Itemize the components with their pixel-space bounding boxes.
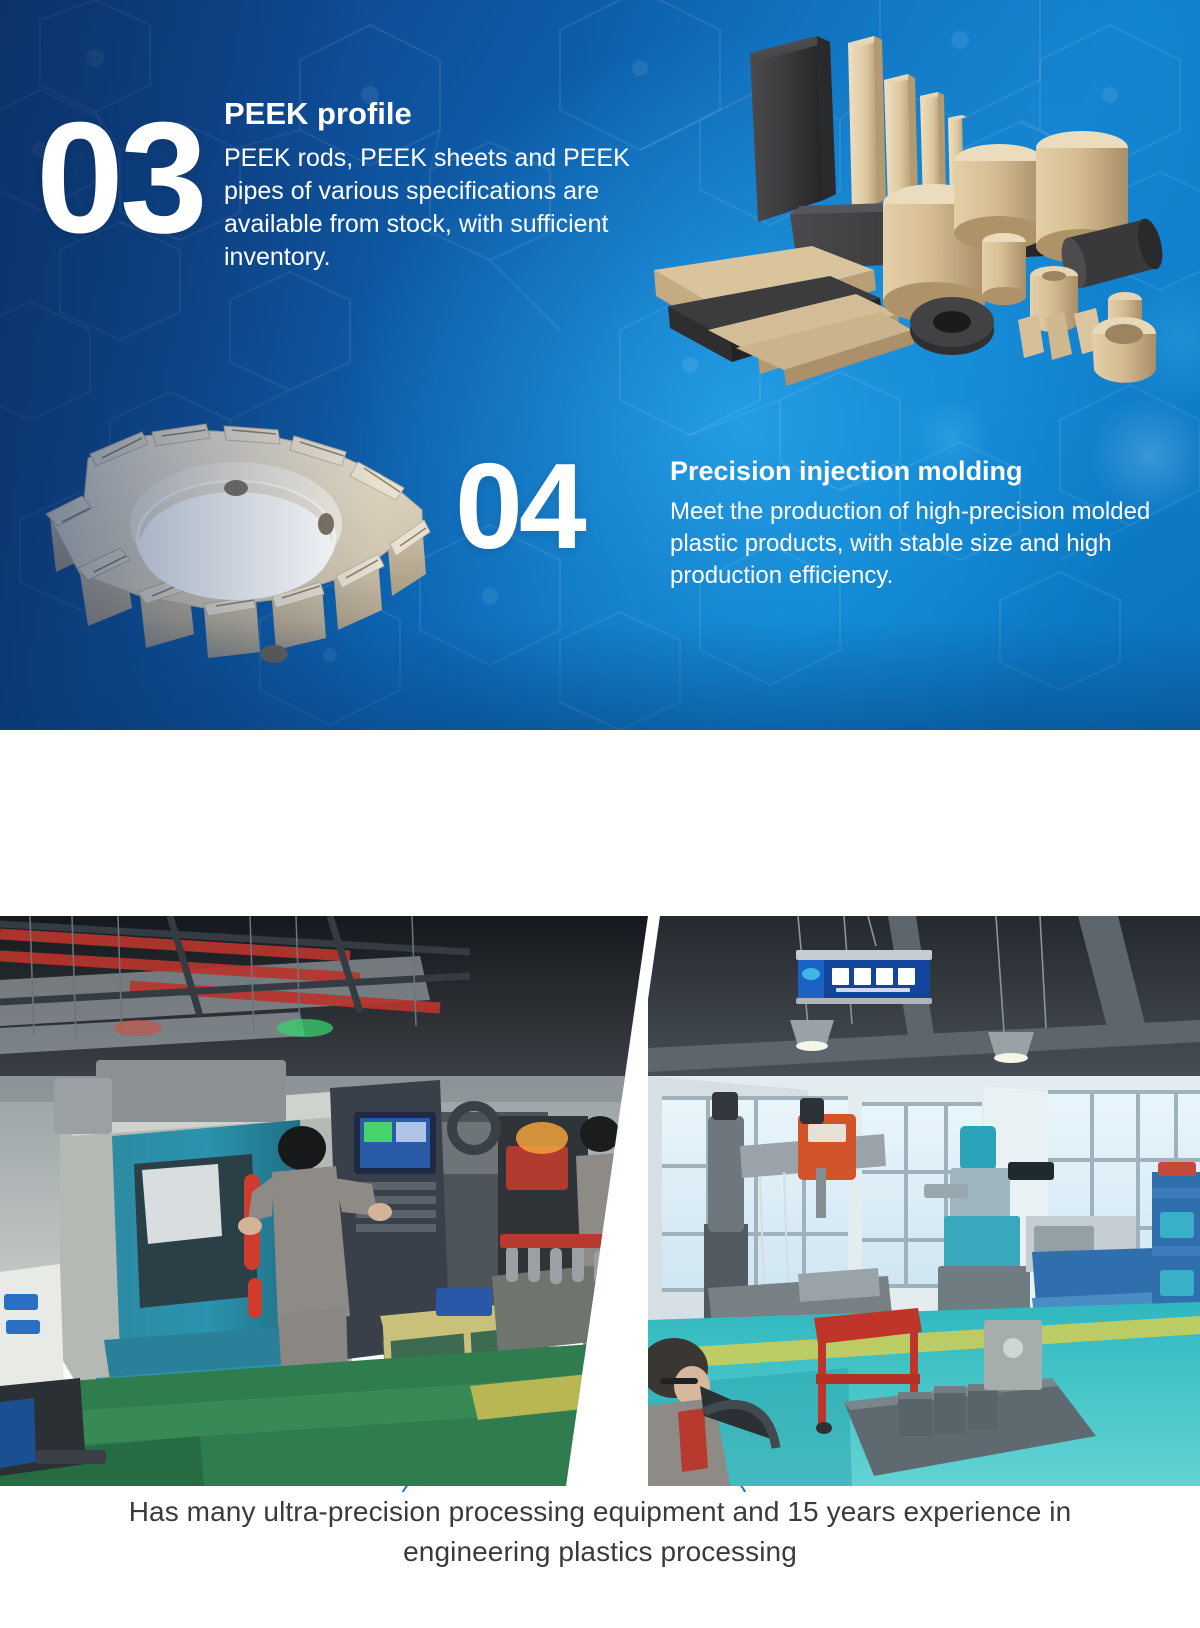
our-strengths-banner: Our strengths [0,730,1200,916]
feature-title-03: PEEK profile [224,96,654,132]
bottom-caption: Has many ultra-precision processing equi… [0,1492,1200,1628]
feature-title-04: Precision injection molding [670,456,1170,487]
marketing-page: 03 PEEK profile PEEK rods, PEEK sheets a… [0,0,1200,1628]
peek-profile-product-photo [612,18,1192,398]
hero-blue-panel: 03 PEEK profile PEEK rods, PEEK sheets a… [0,0,1200,730]
feature-block-03: 03 PEEK profile PEEK rods, PEEK sheets a… [28,96,648,346]
feature-block-04: 04 Precision injection molding Meet the … [455,440,1175,670]
feature-number-03: 03 [36,106,204,251]
caption-text: Has many ultra-precision processing equi… [110,1492,1090,1572]
feature-body-04: Meet the production of high-precision mo… [670,496,1170,592]
peek-gear-ring-photo [28,396,458,686]
feature-body-03: PEEK rods, PEEK sheets and PEEK pipes of… [224,142,654,275]
mold-workshop-photo [648,916,1200,1486]
factory-photo-pair [0,916,1200,1486]
feature-number-04: 04 [455,450,583,562]
cnc-machining-workshop-photo [0,916,648,1486]
mold-workshop-sign [796,950,932,1004]
